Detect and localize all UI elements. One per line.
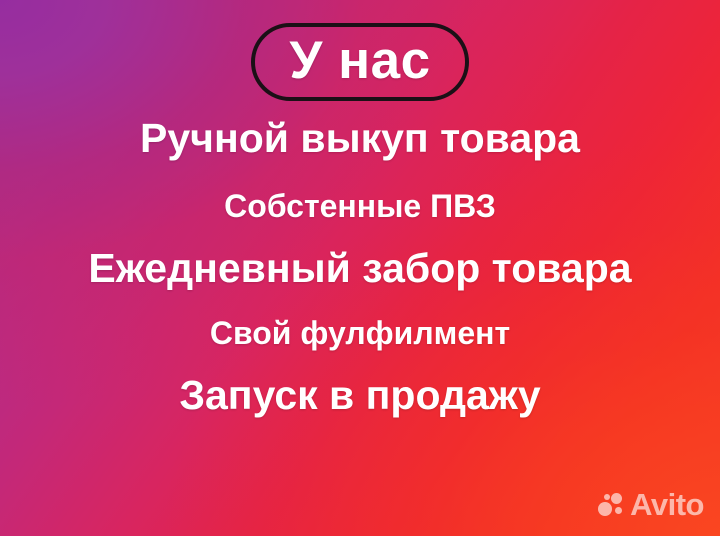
feature-line-2: Собстенные ПВЗ: [224, 190, 496, 222]
avito-dots-icon: [598, 493, 624, 517]
feature-line-1: Ручной выкуп товара: [140, 118, 580, 159]
avito-dot-small: [604, 494, 610, 500]
feature-line-4: Свой фулфилмент: [210, 317, 510, 349]
badge-label: У нас: [289, 34, 430, 87]
us-badge: У нас: [251, 23, 468, 101]
promo-banner: У нас Ручной выкуп товара Собстенные ПВЗ…: [0, 0, 720, 536]
badge-container: У нас: [0, 23, 720, 101]
avito-dot-large: [598, 502, 612, 516]
feature-line-3: Ежедневный забор товара: [88, 248, 631, 289]
avito-watermark: Avito: [598, 489, 704, 520]
feature-list: Ручной выкуп товара Собстенные ПВЗ Ежедн…: [0, 112, 720, 416]
avito-dot-medium: [611, 493, 622, 504]
avito-wordmark: Avito: [630, 489, 704, 520]
feature-line-5: Запуск в продажу: [179, 375, 540, 416]
avito-dot-xsmall: [615, 507, 622, 514]
